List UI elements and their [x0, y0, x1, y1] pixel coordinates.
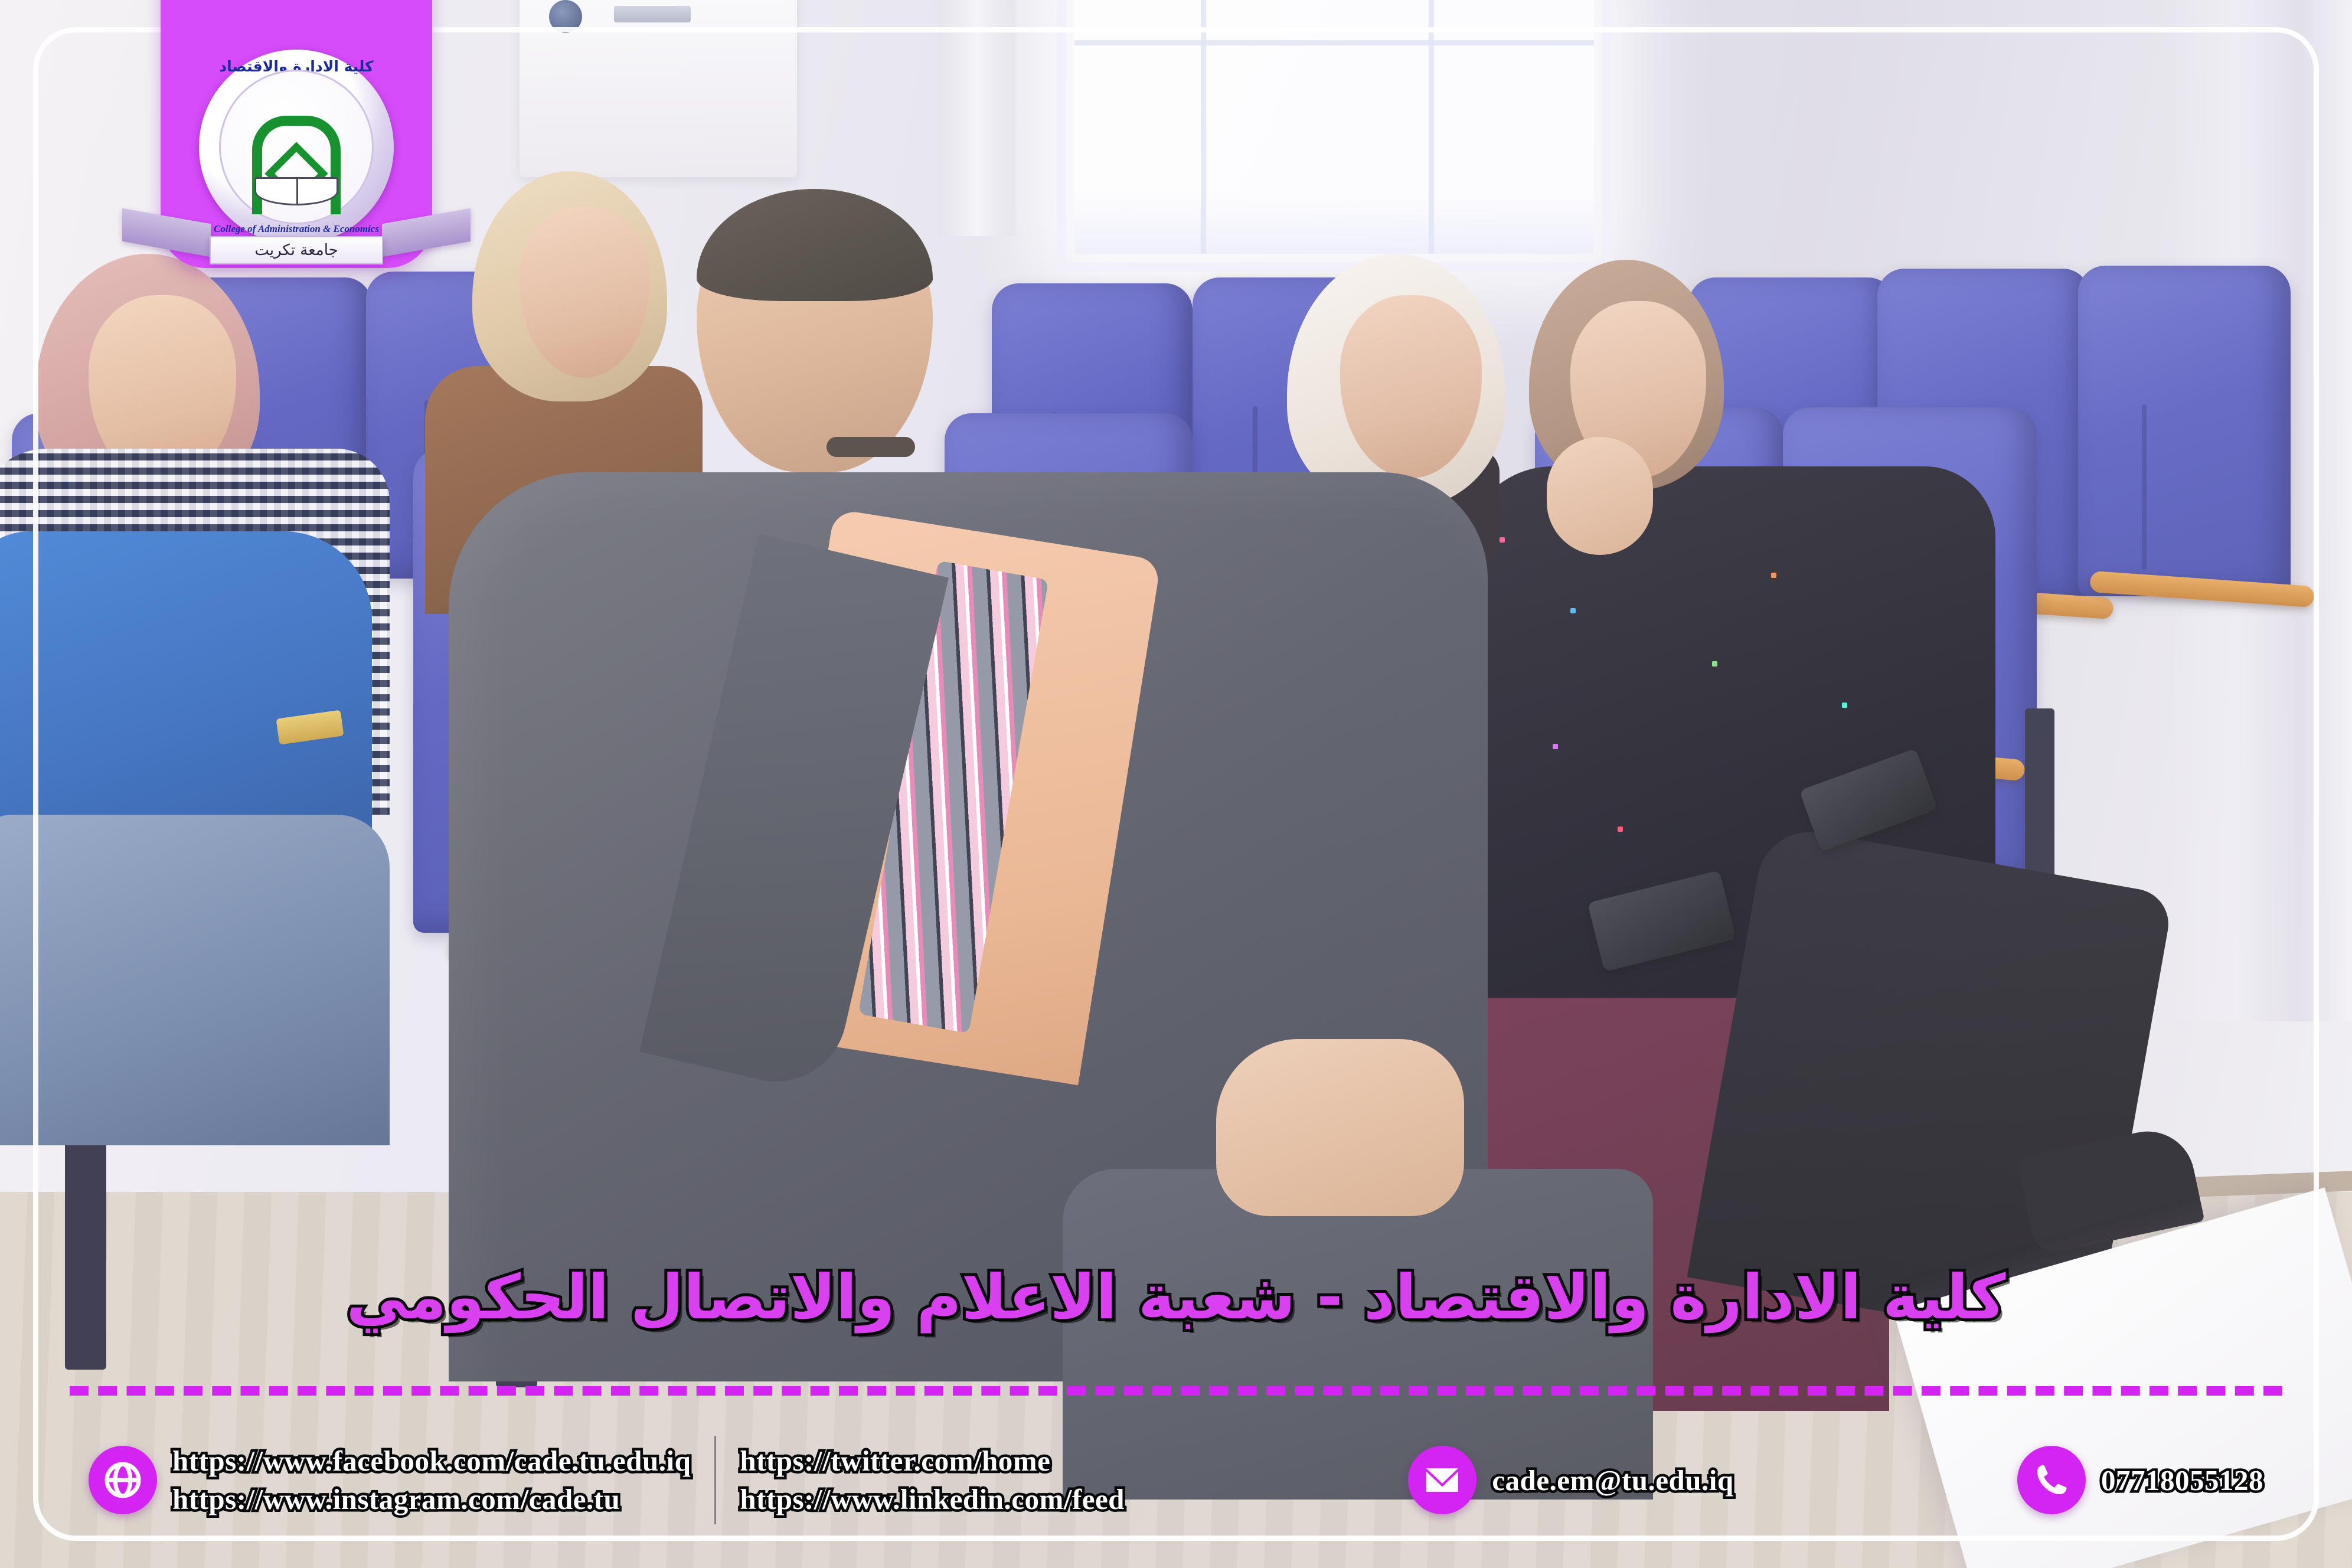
contact-group-email: cade.em@tu.edu.iq [1408, 1446, 1733, 1514]
contact-group-social-links: https://twitter.com/home https://www.lin… [740, 1444, 1125, 1516]
crest-open-book-icon [254, 177, 338, 205]
window-frame [1057, 0, 1612, 272]
phone-icon[interactable] [2017, 1446, 2086, 1514]
contact-group-phone: 07718055128 [2017, 1446, 2263, 1514]
facebook-url[interactable]: https://www.facebook.com/cade.tu.edu.iq [172, 1444, 691, 1478]
door-column [939, 0, 1015, 236]
phone-number[interactable]: 07718055128 [2101, 1464, 2263, 1497]
poster-caption: كلية الادارة والاقتصاد - شعبة الاعلام وا… [0, 1263, 2352, 1331]
crest-english-title: College of Administration & Economics [199, 223, 394, 235]
wall-dial-icon [549, 0, 582, 33]
college-crest-icon: كلية الادارة والاقتصاد College of Admini… [199, 50, 394, 244]
linkedin-url[interactable]: https://www.linkedin.com/feed [740, 1482, 1125, 1516]
wall-vent [614, 6, 691, 22]
globe-icon[interactable] [89, 1446, 157, 1514]
auditorium-seat [2078, 266, 2291, 596]
footer-divider [714, 1436, 716, 1524]
resting-hand [1547, 437, 1653, 555]
twitter-url[interactable]: https://twitter.com/home [740, 1444, 1125, 1478]
university-ribbon: جامعة تكريت [210, 236, 383, 264]
denim-trousers [0, 815, 390, 1145]
seat-leg [65, 1122, 106, 1370]
contact-group-social-web: https://www.facebook.com/cade.tu.edu.iq … [89, 1444, 691, 1516]
instagram-url[interactable]: https://www.instagram.com/cade.tu [172, 1482, 691, 1516]
college-logo-badge: كلية الادارة والاقتصاد College of Admini… [161, 0, 432, 268]
clasped-hands [1216, 1039, 1464, 1216]
contact-footer: https://www.facebook.com/cade.tu.edu.iq … [89, 1418, 2263, 1542]
envelope-icon[interactable] [1408, 1446, 1476, 1514]
social-media-poster: كلية الادارة والاقتصاد College of Admini… [0, 0, 2352, 1568]
moustache [827, 437, 915, 457]
email-address[interactable]: cade.em@tu.edu.iq [1492, 1464, 1733, 1497]
dashed-divider [70, 1386, 2282, 1396]
blue-coat [0, 531, 372, 862]
